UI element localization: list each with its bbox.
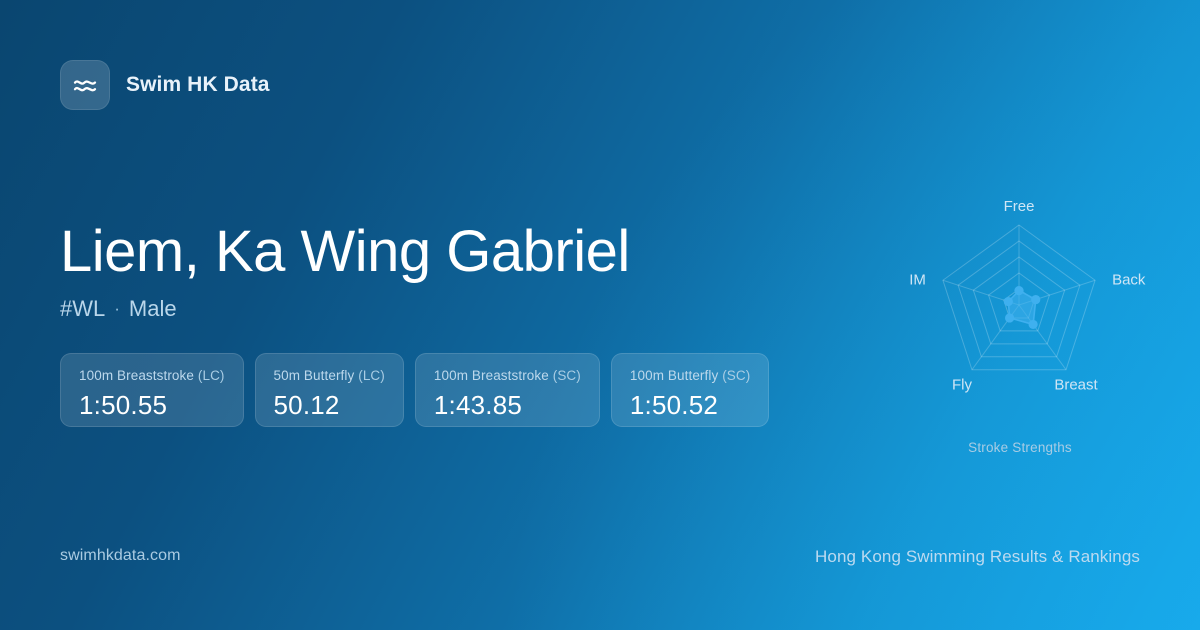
stat-card[interactable]: 50m Butterfly (LC) 50.12 (255, 353, 404, 427)
radar-chart-caption: Stroke Strengths (880, 440, 1160, 455)
hero-block: Liem, Ka Wing Gabriel #WL · Male (60, 222, 760, 322)
radar-data-point (1004, 297, 1013, 306)
stat-card-event: 100m Breaststroke (79, 368, 194, 383)
radar-axis-label: Breast (1054, 377, 1098, 394)
stat-card-label: 100m Breaststroke (LC) (79, 368, 225, 383)
athlete-gender: Male (129, 296, 177, 322)
athlete-meta: #WL · Male (60, 296, 760, 322)
radar-data-point (1029, 320, 1038, 329)
radar-data-point (1014, 286, 1023, 295)
stroke-strengths-radar-chart: FreeBackBreastFlyIM Stroke Strengths (880, 176, 1160, 472)
stat-card-label: 50m Butterfly (LC) (274, 368, 385, 383)
radar-axis-label: Fly (952, 377, 972, 394)
stat-card-label: 100m Breaststroke (SC) (434, 368, 581, 383)
stat-card-time: 50.12 (274, 390, 385, 421)
brand-name: Swim HK Data (126, 73, 270, 97)
stat-card-course: (LC) (358, 368, 385, 383)
stat-card-label: 100m Butterfly (SC) (630, 368, 750, 383)
stat-card-event: 50m Butterfly (274, 368, 355, 383)
stat-card-time: 1:50.52 (630, 390, 750, 421)
radar-axis-label: Back (1112, 271, 1146, 288)
stat-card-course: (LC) (198, 368, 225, 383)
stat-card-course: (SC) (553, 368, 581, 383)
meta-separator: · (114, 299, 120, 319)
radar-series (1004, 286, 1041, 329)
stat-card[interactable]: 100m Butterfly (SC) 1:50.52 (611, 353, 769, 427)
stat-card-course: (SC) (722, 368, 750, 383)
athlete-club: #WL (60, 296, 105, 322)
page-title: Liem, Ka Wing Gabriel (60, 222, 760, 282)
stat-card-event: 100m Butterfly (630, 368, 718, 383)
stat-card-row: 100m Breaststroke (LC) 1:50.55 50m Butte… (60, 353, 769, 427)
stat-card[interactable]: 100m Breaststroke (LC) 1:50.55 (60, 353, 244, 427)
footer-tagline: Hong Kong Swimming Results & Rankings (815, 547, 1140, 567)
radar-data-point (1031, 295, 1040, 304)
radar-axis-label: IM (909, 271, 926, 288)
stat-card[interactable]: 100m Breaststroke (SC) 1:43.85 (415, 353, 600, 427)
og-card-canvas: Swim HK Data Liem, Ka Wing Gabriel #WL ·… (0, 0, 1200, 630)
radar-axis-label: Free (1004, 198, 1035, 215)
stat-card-time: 1:43.85 (434, 390, 581, 421)
stat-card-time: 1:50.55 (79, 390, 225, 421)
footer-site-url[interactable]: swimhkdata.com (60, 547, 181, 565)
wave-approx-icon (60, 60, 110, 110)
brand-lockup[interactable]: Swim HK Data (60, 60, 270, 110)
stat-card-event: 100m Breaststroke (434, 368, 549, 383)
radar-data-point (1005, 313, 1014, 322)
